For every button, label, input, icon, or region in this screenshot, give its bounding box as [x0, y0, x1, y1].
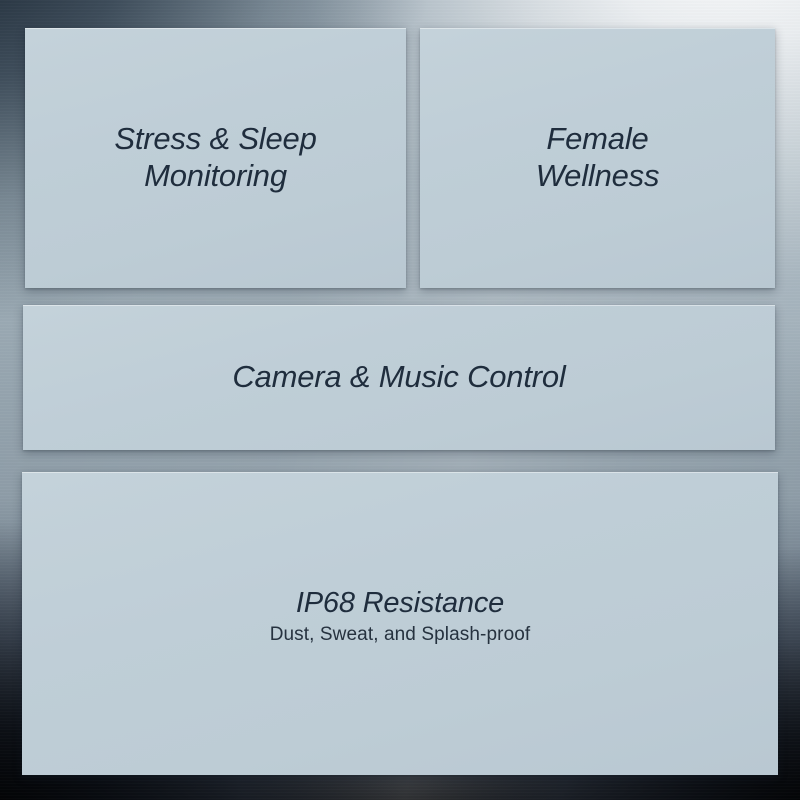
feature-card-canvas: Stress & Sleep Monitoring Female Wellnes… [0, 0, 800, 800]
feature-card-female-wellness[interactable]: Female Wellness [420, 28, 775, 288]
feature-card-ip68-resistance[interactable]: IP68 Resistance Dust, Sweat, and Splash-… [22, 472, 778, 775]
feature-card-stress-sleep-monitoring[interactable]: Stress & Sleep Monitoring [25, 28, 406, 288]
card-content: IP68 Resistance Dust, Sweat, and Splash-… [270, 586, 531, 648]
feature-card-camera-music-control[interactable]: Camera & Music Control [23, 305, 775, 450]
card-subtitle-ip68-resistance: Dust, Sweat, and Splash-proof [270, 623, 531, 648]
card-title-stress-sleep-monitoring: Stress & Sleep Monitoring [114, 121, 316, 194]
card-title-ip68-resistance: IP68 Resistance [296, 586, 504, 620]
card-title-camera-music-control: Camera & Music Control [232, 359, 565, 396]
card-content: Stress & Sleep Monitoring [114, 121, 316, 194]
card-title-female-wellness: Female Wellness [536, 121, 660, 194]
card-content: Female Wellness [536, 121, 660, 194]
card-content: Camera & Music Control [232, 359, 565, 396]
